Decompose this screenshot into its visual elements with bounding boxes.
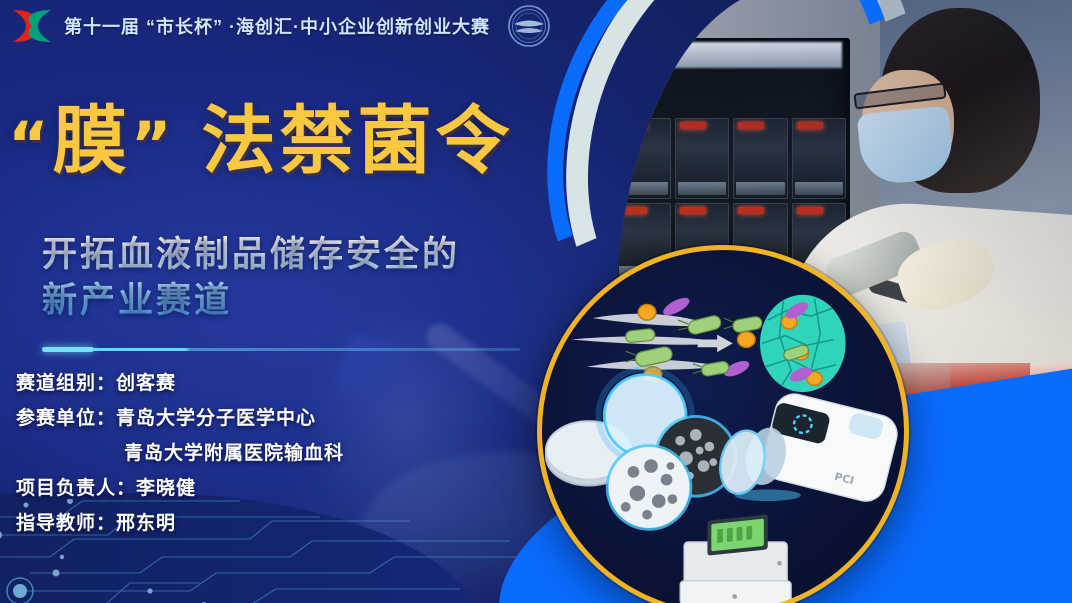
page-subtitle: 开拓血液制品储存安全的 新产业赛道 [42,232,542,324]
header-title: 第十一届 “市长杯” ·海创汇·中小企业创新创业大赛 [64,13,490,39]
title-quote-close: ” [131,108,176,181]
leader-label: 项目负责人： [16,477,136,499]
bacteria-filtration-diagram [571,294,845,392]
track-value: 创客赛 [116,372,176,394]
info-row-unit: 参赛单位：青岛大学分子医学中心 [16,401,536,436]
info-row-advisor: 指导教师：邢东明 [16,506,536,541]
title-quote-open: “ [8,108,53,181]
title-rest: 法禁菌令 [202,98,514,184]
unit-label: 参赛单位： [16,407,116,429]
air-sampler-device: PCI [714,390,901,505]
info-row-unit-2: 青岛大学附属医院输血科 [16,436,536,471]
unit-value-2: 青岛大学附属医院输血科 [124,442,344,464]
competition-logo-icon [10,6,54,46]
subtitle-line-2: 新产业赛道 [42,278,542,324]
subtitle-line-1: 开拓血液制品储存安全的 [42,232,542,278]
page-title: “膜”法禁菌令 [8,104,548,178]
leader-value: 李晓健 [136,477,196,499]
project-info-block: 赛道组别：创客赛 参赛单位：青岛大学分子医学中心 青岛大学附属医院输血科 项目负… [16,366,536,541]
advisor-value: 邢东明 [116,512,176,534]
advisor-label: 指导教师： [16,512,116,534]
filter-membrane-discs [546,369,736,530]
info-row-track: 赛道组别：创客赛 [16,366,536,401]
membrane-filtration-illustration: PCI [537,245,909,603]
institution-seal-icon [508,5,550,47]
slide-content: “膜”法禁菌令 开拓血液制品储存安全的 新产业赛道 赛道组别：创客赛 参赛单位：… [0,0,560,603]
unit-value-1: 青岛大学分子医学中心 [116,407,316,429]
header-bar: 第十一届 “市长杯” ·海创汇·中小企业创新创业大赛 [0,0,1072,52]
incubator-analyzer-device [680,514,791,603]
track-label: 赛道组别： [16,372,116,394]
presentation-slide: A RhD neg [0,0,1072,603]
info-row-leader: 项目负责人：李晓健 [16,471,536,506]
divider [42,348,520,351]
title-key-char: 膜 [53,98,131,184]
